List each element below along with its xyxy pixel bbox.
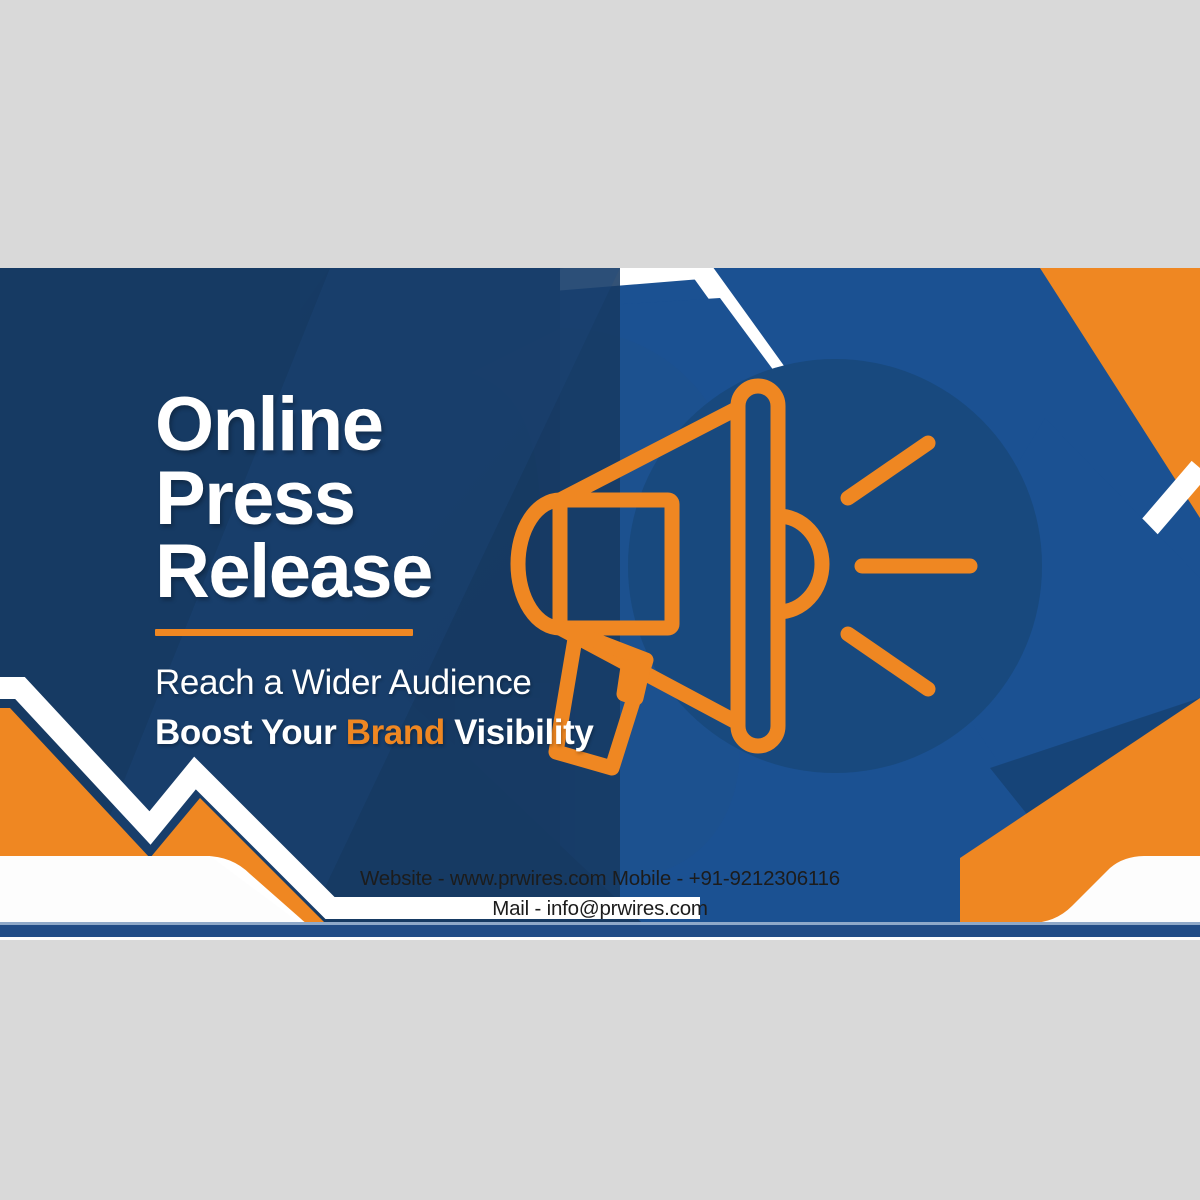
- footer-blue-rule: [0, 924, 1200, 937]
- headline-line-1: Online: [155, 388, 775, 462]
- press-release-banner: Online Press Release Reach a Wider Audie…: [0, 268, 1200, 940]
- subline-text-before: Boost Your: [155, 713, 346, 752]
- contact-footer: Website - www.prwires.com Mobile - +91-9…: [0, 864, 1200, 923]
- contact-mail: Mail - info@prwires.com: [0, 894, 1200, 924]
- headline-line-3: Release: [155, 535, 775, 609]
- headline-block: Online Press Release Reach a Wider Audie…: [155, 388, 775, 758]
- subline-text-after: Visibility: [445, 713, 594, 752]
- page-canvas: Online Press Release Reach a Wider Audie…: [0, 0, 1200, 1200]
- headline-line-2: Press: [155, 462, 775, 536]
- headline-divider-rule: [155, 629, 413, 636]
- subline-brand-word: Brand: [346, 713, 445, 752]
- subline-audience: Reach a Wider Audience: [155, 658, 775, 708]
- subline-brand-visibility: Boost Your Brand Visibility: [155, 708, 775, 758]
- contact-website-mobile: Website - www.prwires.com Mobile - +91-9…: [0, 864, 1200, 894]
